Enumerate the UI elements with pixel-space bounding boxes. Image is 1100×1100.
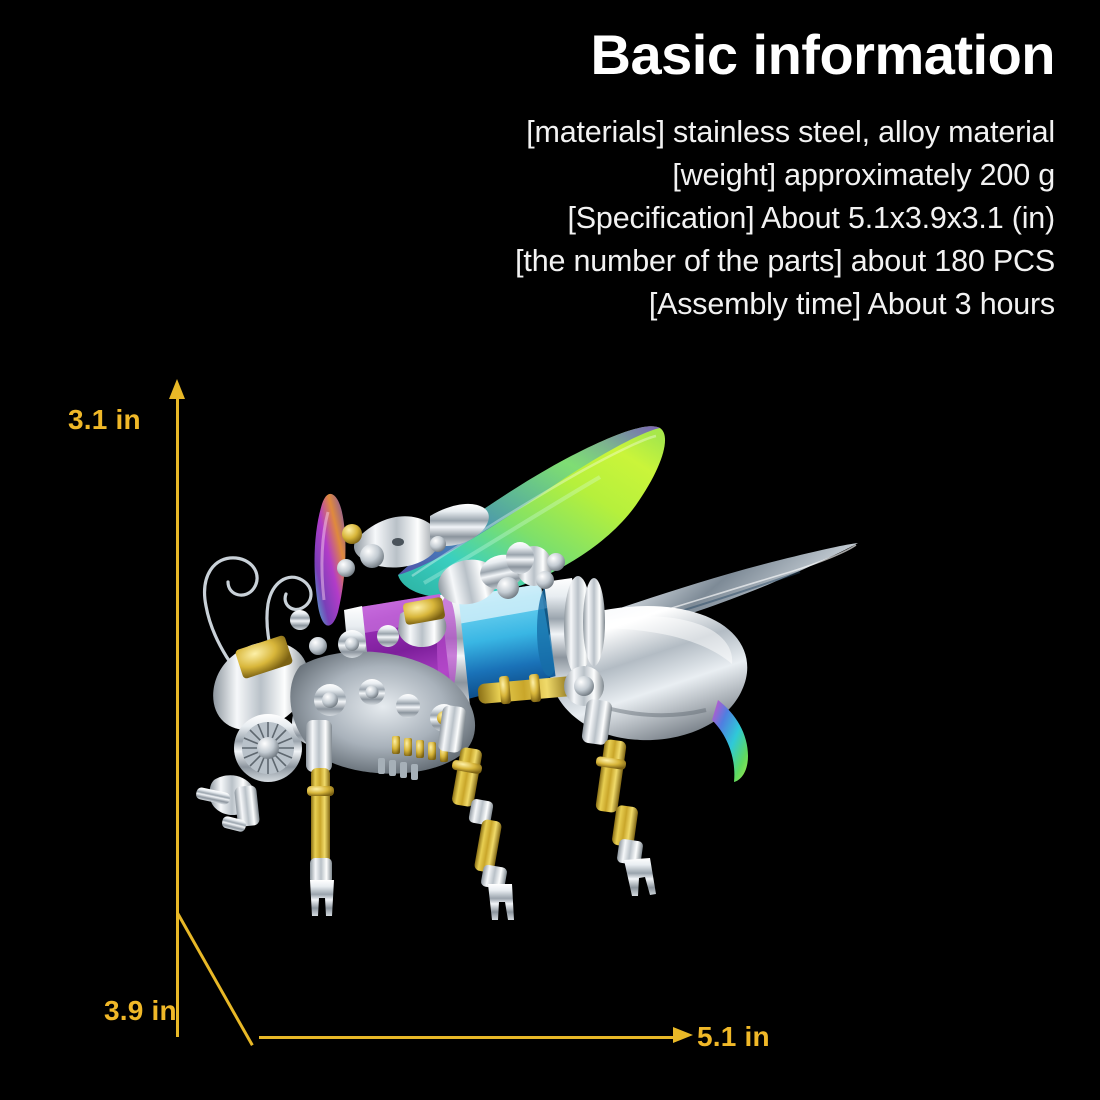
spec-line-specification: [Specification] About 5.1x3.9x3.1 (in) (355, 197, 1055, 240)
leg-front-left-inner (221, 785, 260, 833)
dimension-depth-label: 3.9 in (104, 995, 177, 1027)
spec-line-materials: [materials] stainless steel, alloy mater… (355, 111, 1055, 154)
iridescent-green-wing (398, 426, 665, 598)
central-mechanism (290, 597, 475, 780)
leg-front-left (306, 720, 334, 916)
rainbow-stinger-tip (712, 700, 748, 782)
depth-axis-line (176, 912, 253, 1046)
dimension-height-label: 3.1 in (68, 404, 141, 436)
brass-gold-legs (221, 666, 656, 920)
purple-cylinder (344, 594, 457, 718)
chrome-fork-feet (310, 880, 334, 916)
dimension-width-label: 5.1 in (697, 1021, 770, 1053)
silver-abdomen (546, 606, 748, 782)
spec-list: [materials] stainless steel, alloy mater… (355, 111, 1055, 326)
product-info-banner: Basic information [materials] stainless … (0, 0, 1100, 1100)
height-axis-line (176, 392, 179, 1037)
chrome-fork-feet (624, 858, 656, 896)
info-panel: Basic information [materials] stainless … (355, 24, 1055, 326)
spec-line-assembly-time: [Assembly time] About 3 hours (355, 283, 1055, 326)
chrome-fork-feet (488, 884, 514, 920)
blue-cylinder (434, 576, 605, 708)
leg-middle (437, 705, 514, 920)
width-axis-line (259, 1036, 679, 1039)
chrome-shoulder-assembly (354, 504, 554, 610)
leg-rear (477, 666, 656, 896)
width-axis-arrow-icon (673, 1027, 693, 1043)
page-title: Basic information (355, 24, 1055, 87)
rainbow-horn-fin (315, 494, 346, 626)
spec-line-weight: [weight] approximately 200 g (355, 154, 1055, 197)
spec-line-parts-count: [the number of the parts] about 180 PCS (355, 240, 1055, 283)
height-axis-arrow-icon (169, 379, 185, 399)
curled-silver-antennae (205, 558, 311, 700)
detail-bolts (290, 524, 565, 655)
silver-blade-wing (556, 543, 858, 645)
radial-turbine-disc (195, 635, 340, 815)
